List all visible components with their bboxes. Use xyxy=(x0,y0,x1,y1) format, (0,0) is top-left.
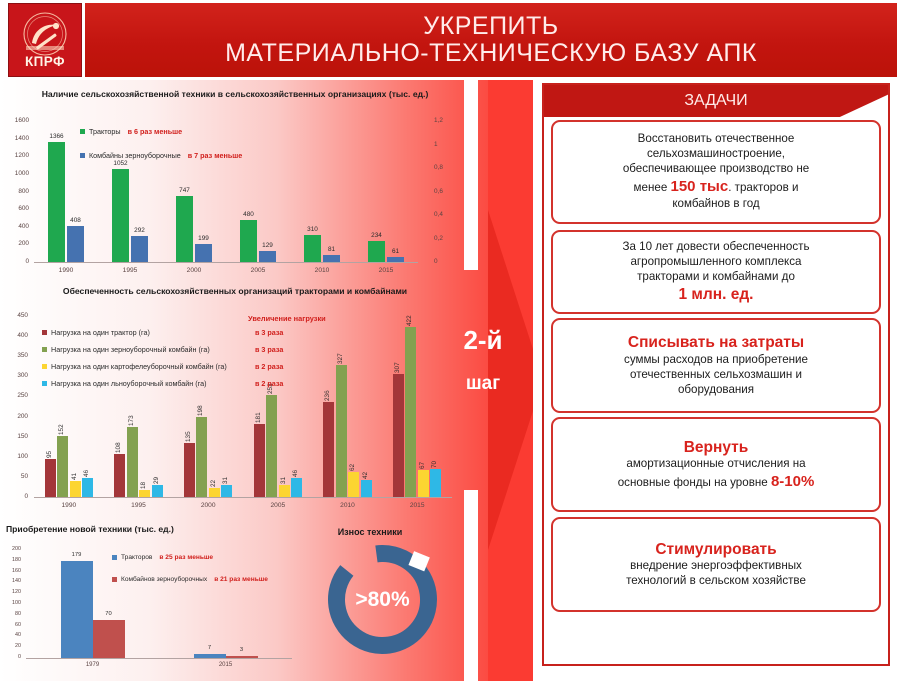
bar-value-label: 95 xyxy=(46,441,57,458)
bar-value-label: 3 xyxy=(220,647,264,653)
task-box-stimulate-tech[interactable]: Стимулироватьвнедрение энергоэффективных… xyxy=(551,517,881,612)
y-axis-tick: 180 xyxy=(0,557,21,563)
bar xyxy=(254,424,265,497)
bar-value-label: 234 xyxy=(360,232,393,239)
bar xyxy=(221,485,232,497)
bar-value-label: 408 xyxy=(59,217,92,224)
task-box-restore-machinery[interactable]: Восстановить отечественноесельхозмашинос… xyxy=(551,120,881,224)
y-axis-tick: 250 xyxy=(0,392,28,399)
chart-load: 4504003503002502001501005001990951524146… xyxy=(0,302,470,517)
bar-value-label: 181 xyxy=(255,406,266,423)
x-axis-tick: 1979 xyxy=(69,662,117,668)
step-number: 2-й xyxy=(430,325,536,356)
legend-label: Нагрузка на один трактор (га) xyxy=(51,328,150,337)
bar xyxy=(195,244,212,262)
x-axis-tick: 2015 xyxy=(364,267,408,274)
page-title: УКРЕПИТЬ МАТЕРИАЛЬНО-ТЕХНИЧЕСКУЮ БАЗУ АП… xyxy=(85,3,897,77)
task-accent: 8-10% xyxy=(771,473,814,490)
y-axis-tick: 0 xyxy=(0,654,21,660)
task-line: менее 150 тыс. тракторов и xyxy=(634,177,799,196)
y-axis-tick: 50 xyxy=(0,473,28,480)
legend-swatch xyxy=(42,364,47,369)
y-axis-tick: 400 xyxy=(0,223,29,230)
bar-value-label: 46 xyxy=(292,460,303,477)
x-axis-tick: 1990 xyxy=(44,267,88,274)
bar xyxy=(393,374,404,497)
legend-swatch xyxy=(42,330,47,335)
task-line: сельхозмашиностроение, xyxy=(647,147,785,162)
bar xyxy=(112,169,129,262)
bar-value-label: 310 xyxy=(296,226,329,233)
task-line: технологий в сельском хозяйстве xyxy=(626,574,806,589)
chart-legend-item: Нагрузка на один льноуборочный комбайн (… xyxy=(42,379,207,388)
task-line: обеспечивающее производство не xyxy=(623,162,809,177)
step-word: шаг xyxy=(430,373,536,395)
plot-baseline xyxy=(34,262,418,263)
task-line: основные фонды на уровне 8-10% xyxy=(618,472,815,491)
bar xyxy=(259,251,276,262)
legend-label: Тракторы xyxy=(89,127,121,136)
bar xyxy=(176,196,193,262)
bar xyxy=(61,561,93,658)
legend-note: в 7 раз меньше xyxy=(188,151,243,160)
y-axis-tick: 450 xyxy=(0,312,28,319)
legend-note: в 2 раза xyxy=(255,379,283,388)
task-line: оборудования xyxy=(678,383,754,398)
legend-label: Комбайны зерноуборочные xyxy=(89,151,181,160)
bar xyxy=(152,485,163,497)
bar xyxy=(82,478,93,497)
bar xyxy=(45,459,56,497)
legend-label: Нагрузка на один картофелеуборочный комб… xyxy=(51,362,227,371)
chart-legend-item: Комбайнов зерноуборочныхв 21 раз меньше xyxy=(112,576,268,583)
bar xyxy=(405,327,416,497)
bar-value-label: 41 xyxy=(71,463,82,480)
legend-swatch xyxy=(42,381,47,386)
bar xyxy=(93,620,125,658)
y-axis-tick: 200 xyxy=(0,546,21,552)
bar-value-label: 179 xyxy=(55,552,99,558)
bar-value-label: 129 xyxy=(251,242,284,249)
chart-legend-item: Тракторовв 25 раз меньше xyxy=(112,554,213,561)
task-box-return-depreciation[interactable]: Вернутьамортизационные отчисления наосно… xyxy=(551,417,881,512)
bar xyxy=(266,395,277,497)
chart-load-title: Обеспеченность сельскохозяйственных орга… xyxy=(0,286,470,296)
plot-baseline xyxy=(26,658,292,659)
y-axis-tick: 60 xyxy=(0,622,21,628)
bar-value-label: 31 xyxy=(280,467,291,484)
y-axis-tick: 600 xyxy=(0,205,29,212)
task-text-tail: . тракторов и xyxy=(728,181,798,194)
x-axis-tick: 1995 xyxy=(108,267,152,274)
x-axis-tick: 2005 xyxy=(236,267,280,274)
title-line-2: МАТЕРИАЛЬНО-ТЕХНИЧЕСКУЮ БАЗУ АПК xyxy=(225,40,757,67)
task-box-write-off-costs[interactable]: Списывать на затратысуммы расходов на пр… xyxy=(551,318,881,413)
bar-value-label: 70 xyxy=(87,611,131,617)
bar-value-label: 31 xyxy=(222,467,233,484)
bar xyxy=(291,478,302,497)
y-axis-tick: 0 xyxy=(0,258,29,265)
tasks-heading: ЗАДАЧИ xyxy=(544,85,888,117)
bar xyxy=(131,236,148,262)
bar-value-label: 62 xyxy=(349,454,360,471)
y-axis-tick: 100 xyxy=(0,453,28,460)
legend-note-header: Увеличение нагрузки xyxy=(248,314,326,323)
task-line: суммы расходов на приобретение xyxy=(624,353,808,368)
bar-value-label: 1366 xyxy=(40,133,73,140)
y-axis-tick: 120 xyxy=(0,589,21,595)
bar xyxy=(194,654,226,658)
task-line: Восстановить отечественное xyxy=(638,132,795,147)
legend-swatch xyxy=(80,129,85,134)
y-axis-tick: 100 xyxy=(0,600,21,606)
step-arrow: 2-й шаг xyxy=(430,80,545,681)
bar xyxy=(323,402,334,497)
chart-wear-donut: >80% xyxy=(325,542,440,657)
task-line: тракторами и комбайнами до xyxy=(637,270,795,285)
chart-wear-title: Износ техники xyxy=(300,527,440,537)
bar-value-label: 67 xyxy=(419,452,430,469)
bar-value-label: 480 xyxy=(232,211,265,218)
y-axis-tick: 1600 xyxy=(0,117,29,124)
bar-value-label: 1052 xyxy=(104,160,137,167)
legend-swatch xyxy=(80,153,85,158)
y-axis-tick: 1400 xyxy=(0,135,29,142)
chart-purchases-title: Приобретение новой техники (тыс. ед.) xyxy=(6,524,256,534)
bar-value-label: 61 xyxy=(379,248,412,255)
legend-note: в 6 раз меньше xyxy=(128,127,183,136)
bar-value-label: 18 xyxy=(140,472,151,489)
bar xyxy=(70,481,81,497)
y-axis-tick: 200 xyxy=(0,240,29,247)
bar-value-label: 29 xyxy=(153,467,164,484)
task-text: менее xyxy=(634,181,671,194)
bar xyxy=(336,365,347,497)
x-axis-tick: 2010 xyxy=(326,502,370,509)
y-axis-tick: 800 xyxy=(0,188,29,195)
legend-label: Тракторов xyxy=(121,554,152,561)
y-axis-tick: 150 xyxy=(0,433,28,440)
bar-value-label: 422 xyxy=(406,309,417,326)
task-line: амортизационные отчисления на xyxy=(626,457,805,472)
legend-swatch xyxy=(112,555,117,560)
y-axis-tick: 40 xyxy=(0,632,21,638)
bar xyxy=(279,485,290,497)
bar-value-label: 22 xyxy=(210,470,221,487)
bar xyxy=(48,142,65,262)
legend-note: в 21 раз меньше xyxy=(214,576,268,583)
x-axis-tick: 2005 xyxy=(256,502,300,509)
bar-value-label: 135 xyxy=(185,425,196,442)
task-line-strong: 1 млн. ед. xyxy=(679,285,754,304)
task-line: отечественных сельхозмашин и xyxy=(630,368,802,383)
y-axis-tick: 350 xyxy=(0,352,28,359)
bar-value-label: 292 xyxy=(123,227,156,234)
task-line: агропромышленного комплекса xyxy=(630,255,801,270)
bar xyxy=(114,454,125,497)
chart-legend-item: Нагрузка на один зерноуборочный комбайн … xyxy=(42,345,210,354)
donut-center-label: >80% xyxy=(325,542,440,657)
legend-swatch xyxy=(42,347,47,352)
bar xyxy=(348,472,359,497)
legend-label: Комбайнов зерноуборочных xyxy=(121,576,207,583)
y-axis-tick: 200 xyxy=(0,413,28,420)
bar xyxy=(209,488,220,497)
bar-value-label: 108 xyxy=(115,436,126,453)
chart-legend-item: Нагрузка на один картофелеуборочный комб… xyxy=(42,362,227,371)
task-line-strong: Вернуть xyxy=(684,438,749,457)
bar-value-label: 236 xyxy=(324,384,335,401)
legend-note: в 3 раза xyxy=(255,345,283,354)
legend-note: в 3 раза xyxy=(255,328,283,337)
chart-purchases: 2001801601401201008060402001979179702015… xyxy=(0,538,300,676)
x-axis-tick: 2010 xyxy=(300,267,344,274)
legend-swatch xyxy=(112,577,117,582)
task-text: основные фонды на уровне xyxy=(618,476,771,489)
bar xyxy=(67,226,84,262)
bar-value-label: 173 xyxy=(128,409,139,426)
y-axis-tick: 0 xyxy=(0,493,28,500)
page-header: КПРФ УКРЕПИТЬ МАТЕРИАЛЬНО-ТЕХНИЧЕСКУЮ БА… xyxy=(0,0,900,80)
legend-label: Нагрузка на один зерноуборочный комбайн … xyxy=(51,345,210,354)
legend-label: Нагрузка на один льноуборочный комбайн (… xyxy=(51,379,207,388)
bar-value-label: 747 xyxy=(168,187,201,194)
y-axis-tick: 140 xyxy=(0,578,21,584)
bar xyxy=(361,480,372,497)
task-line: За 10 лет довести обеспеченность xyxy=(622,240,809,255)
y-axis-tick: 160 xyxy=(0,568,21,574)
bar xyxy=(139,490,150,497)
svg-text:КПРФ: КПРФ xyxy=(25,54,65,69)
x-axis-tick: 1990 xyxy=(47,502,91,509)
chart-legend-item: Комбайны зерноуборочныев 7 раз меньше xyxy=(80,151,242,160)
y-axis-tick: 80 xyxy=(0,611,21,617)
bar-value-label: 199 xyxy=(187,235,220,242)
task-box-ten-year-target[interactable]: За 10 лет довести обеспеченностьагропром… xyxy=(551,230,881,314)
bar xyxy=(387,257,404,262)
bar-value-label: 42 xyxy=(362,462,373,479)
y-axis-tick: 400 xyxy=(0,332,28,339)
x-axis-tick: 2000 xyxy=(186,502,230,509)
bar xyxy=(226,656,258,658)
task-line-strong: Списывать на затраты xyxy=(628,333,804,352)
bar xyxy=(418,470,429,497)
infographic-root: КПРФ УКРЕПИТЬ МАТЕРИАЛЬНО-ТЕХНИЧЕСКУЮ БА… xyxy=(0,0,900,681)
bar-value-label: 152 xyxy=(58,418,69,435)
y-axis-tick: 20 xyxy=(0,643,21,649)
legend-note: в 2 раза xyxy=(255,362,283,371)
bar xyxy=(184,443,195,497)
bar-value-label: 307 xyxy=(394,356,405,373)
kprf-logo: КПРФ xyxy=(8,3,82,77)
task-accent: 150 тыс xyxy=(671,178,729,195)
chart-legend-item: Тракторыв 6 раз меньше xyxy=(80,127,182,136)
bar-value-label: 46 xyxy=(83,460,94,477)
chart-legend-item: Нагрузка на один трактор (га) xyxy=(42,328,150,337)
legend-note: в 25 раз меньше xyxy=(159,554,213,561)
bar xyxy=(57,436,68,497)
kprf-emblem-icon: КПРФ xyxy=(12,7,78,73)
chart-availability-title: Наличие сельскохозяйственной техники в с… xyxy=(0,89,470,99)
bar xyxy=(127,427,138,497)
x-axis-tick: 2015 xyxy=(202,662,250,668)
bar xyxy=(323,255,340,262)
y-axis-tick: 1200 xyxy=(0,152,29,159)
y-axis-tick: 1000 xyxy=(0,170,29,177)
bar-value-label: 81 xyxy=(315,246,348,253)
task-line: внедрение энергоэффективных xyxy=(630,559,802,574)
y-axis-tick: 300 xyxy=(0,372,28,379)
x-axis-tick: 2000 xyxy=(172,267,216,274)
tasks-panel: ЗАДАЧИ Восстановить отечественноесельхоз… xyxy=(533,80,900,681)
bar xyxy=(196,417,207,497)
bar-value-label: 198 xyxy=(197,399,208,416)
title-line-1: УКРЕПИТЬ xyxy=(423,13,558,40)
task-line: комбайнов в год xyxy=(672,197,759,212)
x-axis-tick: 1995 xyxy=(117,502,161,509)
task-line-strong: Стимулировать xyxy=(655,540,776,559)
chart-availability: 160014001200100080060040020001,210,80,60… xyxy=(0,105,470,280)
bar-value-label: 327 xyxy=(337,347,348,364)
plot-baseline xyxy=(34,497,452,498)
